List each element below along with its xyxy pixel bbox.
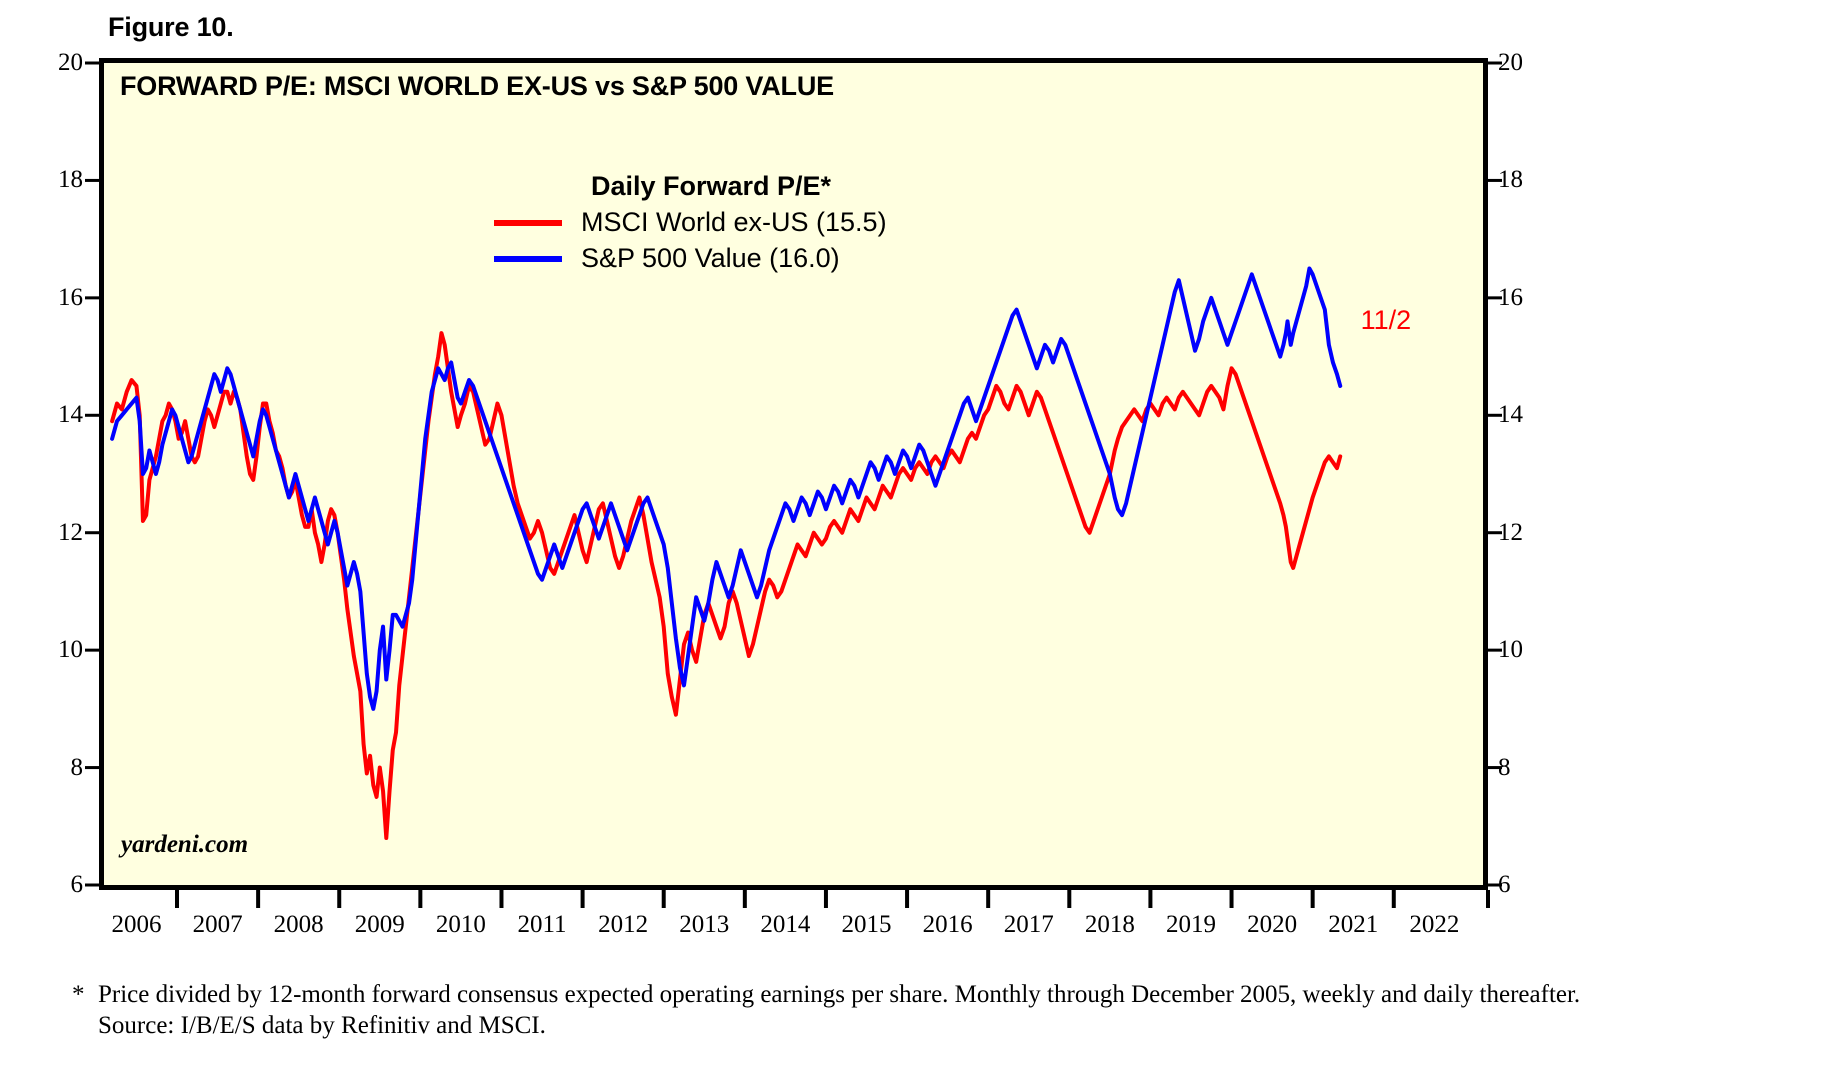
y-axis-label-left-16: 16 [23,285,83,310]
x-axis-label-2019: 2019 [1146,912,1236,937]
y-axis-label-right-20: 20 [1498,50,1558,75]
y-axis-label-right-16: 16 [1498,285,1558,310]
figure-caption: Figure 10. [108,12,234,43]
footnote-text-2: Source: I/B/E/S data by Refinitiv and MS… [98,1011,1772,1042]
x-axis-label-2011: 2011 [497,912,587,937]
x-axis-label-2016: 2016 [903,912,993,937]
footnotes: * Price divided by 12-month forward cons… [72,980,1772,1041]
footnote-spacer [72,1011,98,1042]
y-axis-label-right-14: 14 [1498,402,1558,427]
yardeni-watermark: yardeni.com [121,831,248,859]
chart-plot-area: FORWARD P/E: MSCI WORLD EX-US vs S&P 500… [99,58,1488,890]
y-axis-label-left-14: 14 [23,402,83,427]
series-end-date-annotation: 11/2 [1361,305,1412,336]
x-axis-label-2022: 2022 [1389,912,1479,937]
x-axis-label-2007: 2007 [173,912,263,937]
x-axis-label-2020: 2020 [1227,912,1317,937]
y-axis-label-right-8: 8 [1498,755,1558,780]
footnote-line-1: * Price divided by 12-month forward cons… [72,980,1772,1011]
x-axis-label-2021: 2021 [1308,912,1398,937]
x-axis-label-2008: 2008 [254,912,344,937]
y-axis-label-left-12: 12 [23,520,83,545]
footnote-star: * [72,980,98,1011]
y-axis-label-left-20: 20 [23,50,83,75]
x-axis-label-2006: 2006 [91,912,181,937]
x-axis-label-2009: 2009 [335,912,425,937]
y-axis-label-right-12: 12 [1498,520,1558,545]
x-axis-label-2017: 2017 [984,912,1074,937]
y-axis-label-left-18: 18 [23,167,83,192]
x-axis-label-2012: 2012 [578,912,668,937]
chart-series-layer [104,63,1483,885]
y-axis-label-left-10: 10 [23,637,83,662]
x-axis-label-2018: 2018 [1065,912,1155,937]
x-axis-label-2010: 2010 [416,912,506,937]
y-axis-label-right-18: 18 [1498,167,1558,192]
y-axis-label-right-10: 10 [1498,637,1558,662]
y-axis-label-left-6: 6 [23,872,83,897]
x-axis-label-2014: 2014 [740,912,830,937]
y-axis-label-right-6: 6 [1498,872,1558,897]
x-axis-label-2013: 2013 [659,912,749,937]
x-axis-label-2015: 2015 [822,912,912,937]
footnote-text-1: Price divided by 12-month forward consen… [98,980,1772,1011]
footnote-line-2: Source: I/B/E/S data by Refinitiv and MS… [72,1011,1772,1042]
y-axis-label-left-8: 8 [23,755,83,780]
